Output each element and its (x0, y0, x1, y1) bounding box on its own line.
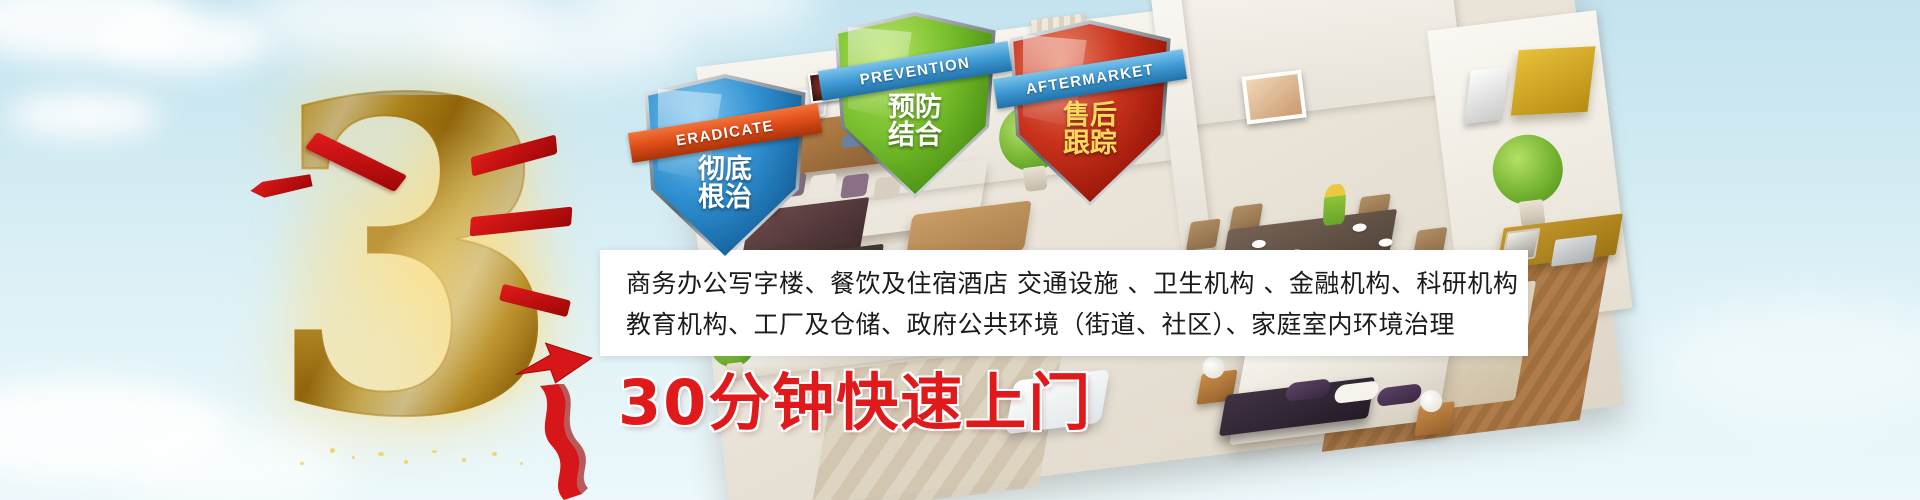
badge-chinese-label: 预防 结合 (835, 94, 995, 151)
badge-chinese-label: 彻底 根治 (645, 156, 805, 213)
badge-prevention[interactable]: PREVENTION 预防 结合 (835, 16, 995, 194)
badge-aftermarket[interactable]: AFTERMARKET 售后 跟踪 (1010, 24, 1170, 202)
framed-painting (1241, 70, 1306, 125)
promo-banner: 3 ERADICATE (0, 0, 1920, 500)
badge-eradicate[interactable]: ERADICATE 彻底 根治 (645, 78, 805, 256)
service-scope-line-1: 商务办公写字楼、餐饮及住宿酒店 交通设施 、卫生机构 、金融机构、科研机构 (626, 264, 1506, 305)
service-scope-line-2: 教育机构、工厂及仓储、政府公共环境（街道、社区）、家庭室内环境治理 (626, 305, 1506, 346)
kitchen-cabinet (1511, 46, 1596, 115)
headline-slogan: 30分钟快速上门 (618, 352, 1092, 442)
range-hood (1464, 66, 1508, 124)
service-scope-panel: 商务办公写字楼、餐饮及住宿酒店 交通设施 、卫生机构 、金融机构、科研机构 教育… (600, 250, 1528, 356)
badge-chinese-label: 售后 跟踪 (1010, 102, 1170, 159)
ribbon-tail (528, 384, 614, 500)
